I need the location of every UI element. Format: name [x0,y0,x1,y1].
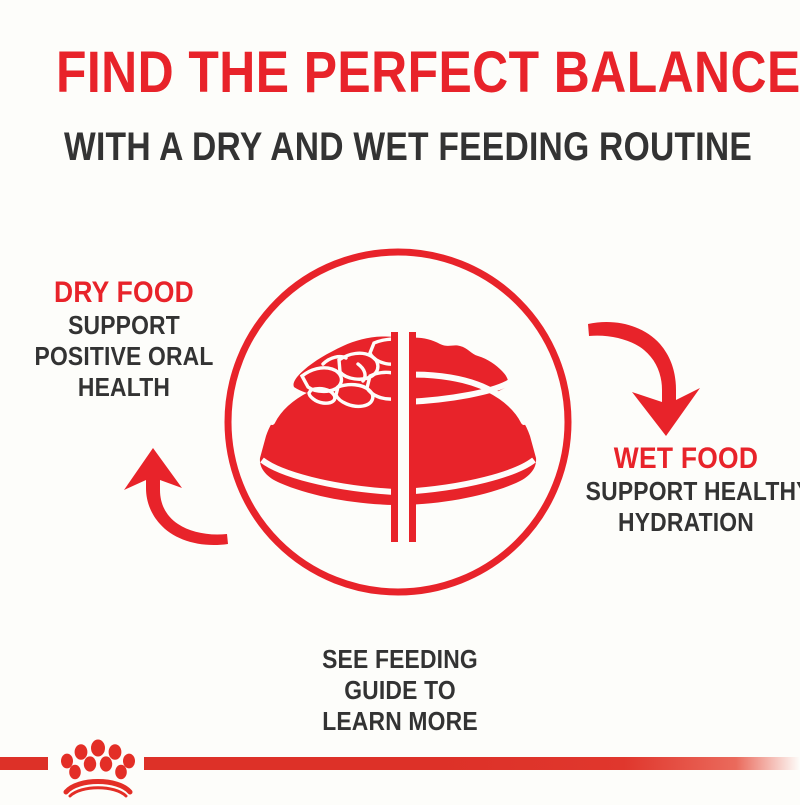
curved-arrow-down-right-icon [588,308,722,442]
callout-dry-line-1: SUPPORT [24,310,225,341]
royal-canin-crown-logo [50,736,146,800]
brand-footer [0,736,800,800]
divider-bar-right [409,332,416,542]
callout-wet-title: WET FOOD [586,442,787,476]
callout-wet-food: WET FOOD SUPPORT HEALTHY HYDRATION [572,442,800,538]
infographic-canvas: FIND THE PERFECT BALANCE WITH A DRY AND … [0,0,800,800]
callout-dry-line-3: HEALTH [24,372,225,403]
callout-dry-line-2: POSITIVE ORAL [24,341,225,372]
cta-line-2: GUIDE TO [272,675,527,706]
page-title: FIND THE PERFECT BALANCE [56,42,744,104]
callout-wet-line-1: SUPPORT HEALTHY [586,476,787,507]
bowl-right-wet-half [402,338,536,505]
page-subtitle: WITH A DRY AND WET FEEDING ROUTINE [64,124,736,170]
cta-line-1: SEE FEEDING [272,644,527,675]
divider-bar-left [391,332,398,542]
curved-arrow-up-left-icon [96,432,228,552]
callout-wet-line-2: HYDRATION [586,507,787,538]
callout-dry-food: DRY FOOD SUPPORT POSITIVE ORAL HEALTH [10,276,238,403]
cta-line-3: LEARN MORE [272,706,527,737]
callout-dry-title: DRY FOOD [24,276,225,310]
feeding-guide-cta[interactable]: SEE FEEDING GUIDE TO LEARN MORE [255,644,545,737]
pet-food-bowl-split-icon [210,236,586,612]
bowl-left-dry-half [260,336,394,505]
